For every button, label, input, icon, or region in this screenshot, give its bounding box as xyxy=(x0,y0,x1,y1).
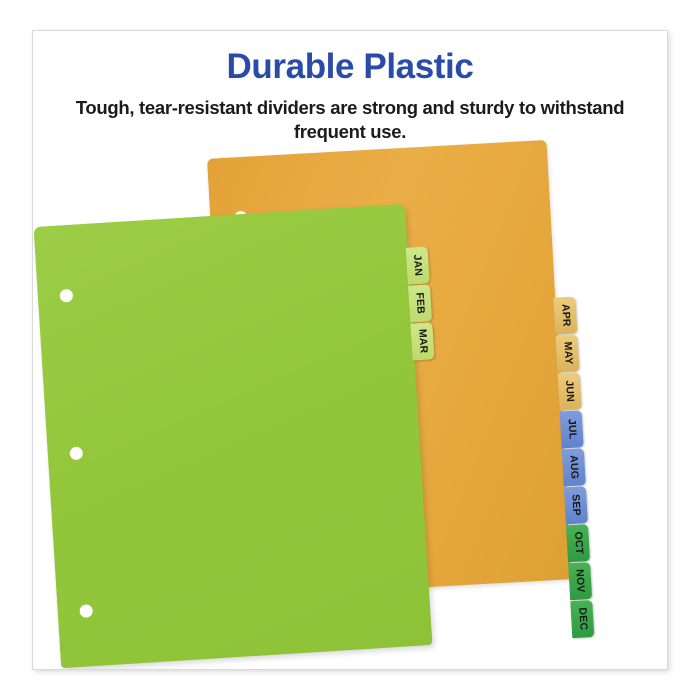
divider-tab-nov: NOV xyxy=(568,562,592,600)
tab-label: MAY xyxy=(562,342,574,366)
divider-tab-apr: APR xyxy=(553,296,577,334)
tab-label: FEB xyxy=(414,292,426,314)
page-subtitle: Tough, tear-resistant dividers are stron… xyxy=(33,96,667,145)
tab-label: DEC xyxy=(576,607,588,630)
tab-column-back-sheet: APR MAY JUN JUL AUG xyxy=(553,296,594,639)
tab-label: MAR xyxy=(416,329,428,354)
tab-label: AUG xyxy=(568,455,580,479)
product-feature-card: Durable Plastic Tough, tear-resistant di… xyxy=(32,30,668,670)
divider-tab-oct: OCT xyxy=(566,524,590,562)
punch-hole-icon xyxy=(59,289,73,303)
headline-block: Durable Plastic Tough, tear-resistant di… xyxy=(33,49,667,145)
screenshot-canvas: Durable Plastic Tough, tear-resistant di… xyxy=(0,0,700,700)
divider-tab-may: MAY xyxy=(555,334,579,372)
tab-label: JUL xyxy=(566,419,578,440)
product-photo: APR MAY JUN JUL AUG xyxy=(33,139,668,670)
tab-label: NOV xyxy=(574,569,586,593)
divider-tab-jul: JUL xyxy=(560,410,584,448)
tab-label: JAN xyxy=(412,254,424,276)
divider-tab-jun: JUN xyxy=(558,372,582,410)
divider-tab-jan: JAN xyxy=(406,246,430,284)
page-title: Durable Plastic xyxy=(33,49,667,86)
punch-hole-icon xyxy=(69,446,83,460)
divider-tab-feb: FEB xyxy=(408,284,432,322)
tab-label: JUN xyxy=(564,380,576,402)
divider-tab-aug: AUG xyxy=(562,448,586,486)
tab-label: APR xyxy=(559,304,571,327)
divider-sheet-green: JAN FEB MAR xyxy=(33,204,432,668)
tab-label: OCT xyxy=(572,532,584,555)
divider-tab-mar: MAR xyxy=(410,322,434,360)
divider-tab-dec: DEC xyxy=(570,600,594,638)
divider-tab-sep: SEP xyxy=(564,486,588,524)
tab-label: SEP xyxy=(570,494,582,516)
punch-hole-icon xyxy=(79,604,93,618)
